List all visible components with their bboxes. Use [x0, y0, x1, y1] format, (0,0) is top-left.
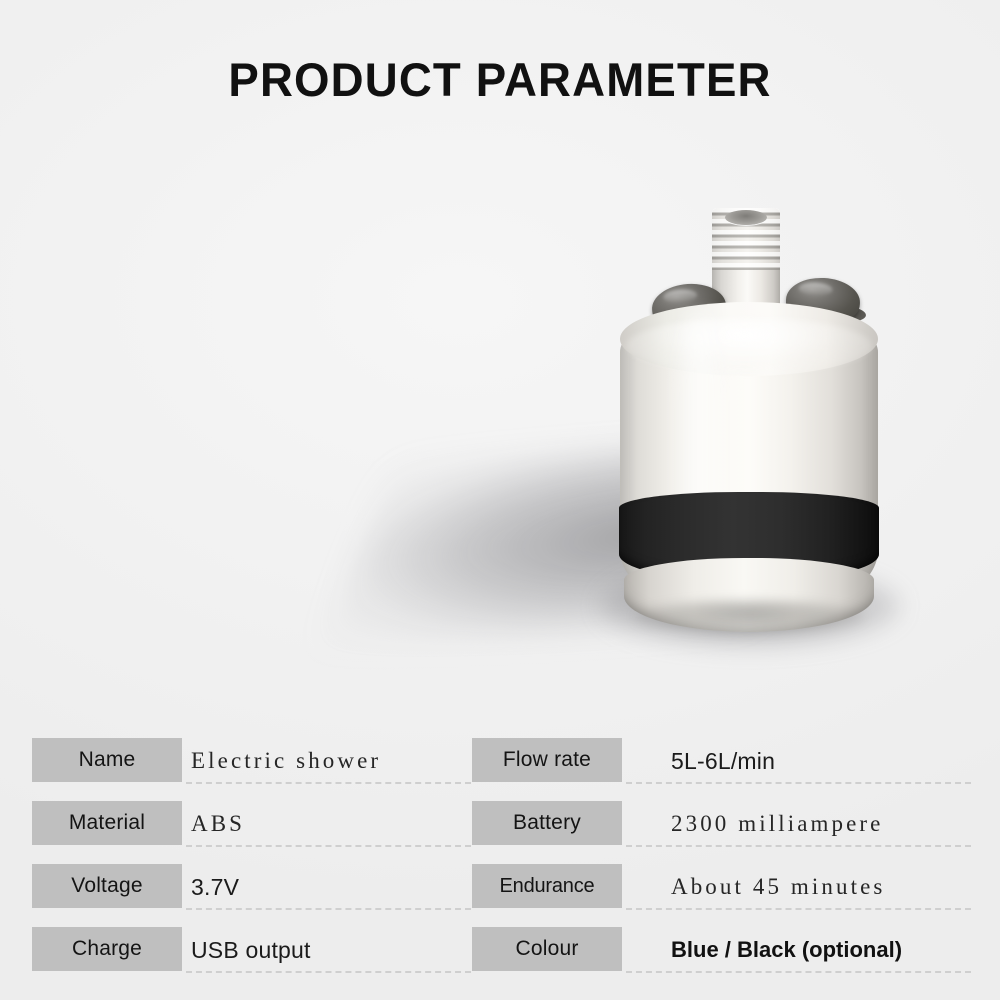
spout-bore-opening: [725, 210, 767, 225]
spec-label-colour: Colour: [472, 927, 622, 971]
device-bottom-shading: [634, 600, 864, 634]
spec-underline: [626, 845, 971, 847]
spec-value-flow-rate: 5L-6L/min: [671, 740, 775, 782]
spec-label-battery: Battery: [472, 801, 622, 845]
table-row: Voltage 3.7V Endurance About 45 minutes: [0, 864, 1000, 926]
spec-value-battery: 2300 milliampere: [671, 803, 883, 845]
cap-left-highlight: [663, 288, 698, 303]
inlet-spout-rim: [604, 188, 664, 207]
spec-underline: [186, 908, 471, 910]
spec-underline: [626, 908, 971, 910]
spec-underline: [186, 782, 471, 784]
page-title: PRODUCT PARAMETER: [15, 52, 985, 107]
spec-underline: [186, 845, 471, 847]
spec-label-name: Name: [32, 738, 182, 782]
spec-value-charge: USB output: [191, 929, 311, 971]
spec-label-charge: Charge: [32, 927, 182, 971]
electric-shower-device: [600, 190, 900, 690]
product-parameter-page: PRODUCT PARAMETER: [0, 0, 1000, 1000]
spec-label-endurance: Endurance: [472, 864, 622, 908]
cap-right-highlight: [798, 282, 833, 297]
spec-table: Name Electric shower Flow rate 5L-6L/min…: [0, 738, 1000, 990]
spec-label-material: Material: [32, 801, 182, 845]
spec-value-material: ABS: [191, 803, 245, 845]
device-top-highlight: [626, 318, 872, 374]
spec-value-voltage: 3.7V: [191, 866, 239, 908]
table-row: Charge USB output Colour Blue / Black (o…: [0, 927, 1000, 989]
spec-underline: [186, 971, 471, 973]
spec-underline: [626, 782, 971, 784]
spec-value-colour: Blue / Black (optional): [671, 929, 902, 971]
table-row: Name Electric shower Flow rate 5L-6L/min: [0, 738, 1000, 800]
table-row: Material ABS Battery 2300 milliampere: [0, 801, 1000, 863]
product-photo: [0, 150, 1000, 710]
spec-label-flow-rate: Flow rate: [472, 738, 622, 782]
spec-label-voltage: Voltage: [32, 864, 182, 908]
spec-value-name: Electric shower: [191, 740, 381, 782]
spec-underline: [626, 971, 971, 973]
spec-value-endurance: About 45 minutes: [671, 866, 885, 908]
